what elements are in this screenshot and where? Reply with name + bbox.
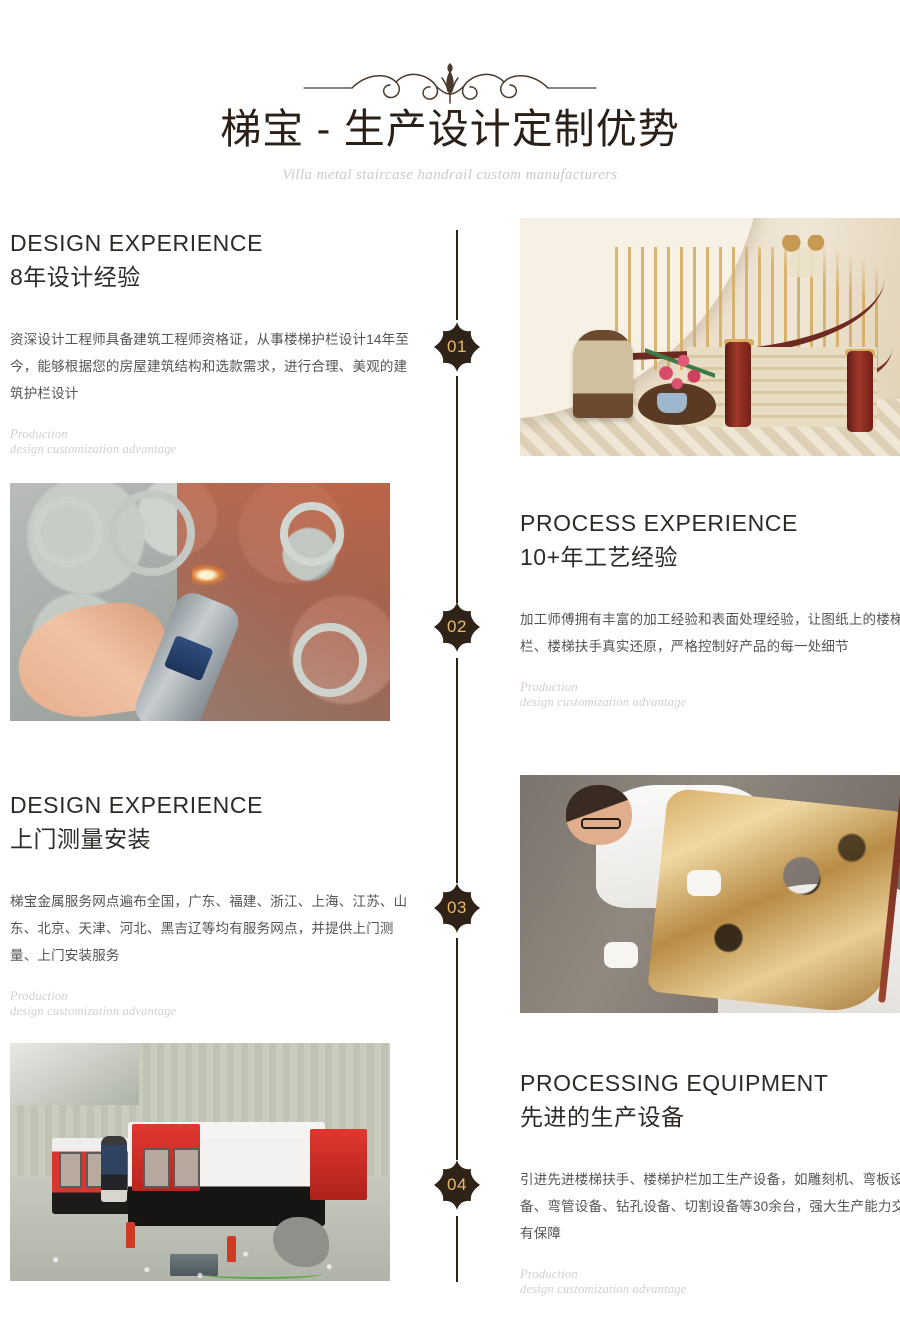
timeline-line-segment-2 xyxy=(456,376,458,603)
worker-handling-gold-ornate-panel-photo xyxy=(520,775,900,1013)
section-4-cn-title: 先进的生产设备 xyxy=(520,1101,900,1134)
script-line-1: Production xyxy=(10,427,410,442)
script-line-1: Production xyxy=(520,1267,900,1282)
section-2-text: PROCESS EXPERIENCE 10+年工艺经验 加工师傅拥有丰富的加工经… xyxy=(520,508,900,710)
section-2-cn-title: 10+年工艺经验 xyxy=(520,541,900,574)
section-2-body: 加工师傅拥有丰富的加工经验和表面处理经验，让图纸上的楼梯护栏、楼梯扶手真实还原，… xyxy=(520,606,900,660)
page-subtitle: Villa metal staircase handrail custom ma… xyxy=(0,167,900,184)
script-line-2: design customization advantage xyxy=(10,1004,410,1019)
section-1-eng-title: DESIGN EXPERIENCE xyxy=(10,228,410,259)
timeline-line-segment-5 xyxy=(456,1216,458,1282)
timeline-badge-4-number: 04 xyxy=(447,1175,467,1195)
script-line-2: design customization advantage xyxy=(520,1282,900,1297)
ornamental-flourish-divider-icon xyxy=(300,58,600,110)
script-line-1: Production xyxy=(10,989,410,1004)
timeline-badge-1-number: 01 xyxy=(447,337,467,357)
section-1-body: 资深设计工程师具备建筑工程师资格证，从事楼梯护栏设计14年至今，能够根据您的房屋… xyxy=(10,326,410,407)
timeline-badge-3[interactable]: 03 xyxy=(426,881,488,935)
section-4-body: 引进先进楼梯扶手、楼梯护栏加工生产设备，如雕刻机、弯板设备、弯管设备、钻孔设备、… xyxy=(520,1166,900,1247)
villa-interior-curved-staircase-photo xyxy=(520,218,900,456)
factory-cnc-machines-photo xyxy=(10,1043,390,1281)
advantage-page: 梯宝 - 生产设计定制优势 Villa metal staircase hand… xyxy=(0,0,900,1339)
section-3-photo xyxy=(520,775,900,1013)
section-4-text: PROCESSING EQUIPMENT 先进的生产设备 引进先进楼梯扶手、楼梯… xyxy=(520,1068,900,1297)
section-3-script-caption: Production design customization advantag… xyxy=(10,989,410,1019)
script-line-2: design customization advantage xyxy=(520,695,900,710)
timeline-line-segment-1 xyxy=(456,230,458,320)
section-2-script-caption: Production design customization advantag… xyxy=(520,680,900,710)
page-header: 梯宝 - 生产设计定制优势 Villa metal staircase hand… xyxy=(0,0,900,210)
timeline-badge-2-number: 02 xyxy=(447,617,467,637)
script-line-1: Production xyxy=(520,680,900,695)
section-4-eng-title: PROCESSING EQUIPMENT xyxy=(520,1068,900,1099)
section-3-text: DESIGN EXPERIENCE 上门测量安装 梯宝金属服务网点遍布全国，广东… xyxy=(10,790,410,1019)
section-3-cn-title: 上门测量安装 xyxy=(10,823,410,856)
section-1-text: DESIGN EXPERIENCE 8年设计经验 资深设计工程师具备建筑工程师资… xyxy=(10,228,410,457)
section-2-eng-title: PROCESS EXPERIENCE xyxy=(520,508,900,539)
timeline-line-segment-4 xyxy=(456,938,458,1160)
page-title: 梯宝 - 生产设计定制优势 xyxy=(0,104,900,154)
section-1-photo xyxy=(520,218,900,456)
section-3-eng-title: DESIGN EXPERIENCE xyxy=(10,790,410,821)
section-1-script-caption: Production design customization advantag… xyxy=(10,427,410,457)
section-4-script-caption: Production design customization advantag… xyxy=(520,1267,900,1297)
timeline-line-segment-3 xyxy=(456,658,458,883)
script-line-2: design customization advantage xyxy=(10,442,410,457)
section-1-cn-title: 8年设计经验 xyxy=(10,261,410,294)
timeline-badge-3-number: 03 xyxy=(447,898,467,918)
section-2-photo xyxy=(10,483,390,721)
timeline-badge-4[interactable]: 04 xyxy=(426,1158,488,1212)
section-3-body: 梯宝金属服务网点遍布全国，广东、福建、浙江、上海、江苏、山东、北京、天津、河北、… xyxy=(10,888,410,969)
worker-grinding-metal-scrollwork-photo xyxy=(10,483,390,721)
timeline-badge-1[interactable]: 01 xyxy=(426,320,488,374)
section-4-photo xyxy=(10,1043,390,1281)
timeline-badge-2[interactable]: 02 xyxy=(426,600,488,654)
